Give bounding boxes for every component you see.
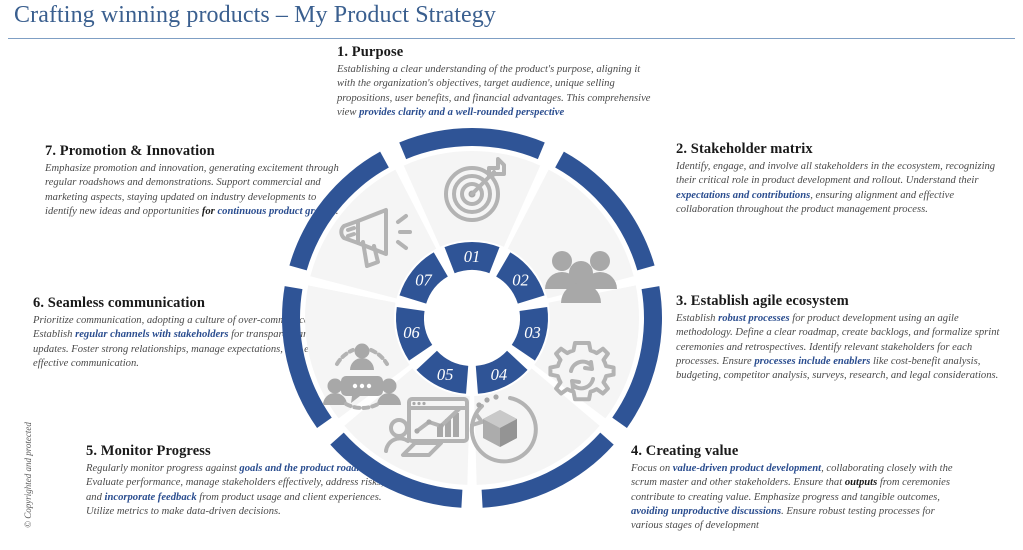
wheel-number-03: 03 xyxy=(524,323,541,342)
section-3-highlight-1: robust processes xyxy=(718,313,790,324)
section-4-body: Focus on value-driven product developmen… xyxy=(631,462,967,533)
section-6-highlight-1: regular channels with stakeholders xyxy=(75,329,228,340)
section-2-heading: 2. Stakeholder matrix xyxy=(676,141,1006,158)
section-1-highlight-1: provides clarity and a well-rounded pers… xyxy=(359,107,564,118)
section-7-highlight-1: for xyxy=(202,206,215,217)
wheel-number-04: 04 xyxy=(491,365,508,384)
section-2-stakeholder-matrix: 2. Stakeholder matrix Identify, engage, … xyxy=(676,141,1006,217)
wheel-number-02: 02 xyxy=(512,270,529,289)
wheel-number-07: 07 xyxy=(415,270,432,289)
product-strategy-wheel: 01020304050607 xyxy=(282,128,662,508)
wheel-number-06: 06 xyxy=(403,323,420,342)
section-2-highlight-1: expectations and contributions xyxy=(676,190,810,201)
section-1-purpose: 1. Purpose Establishing a clear understa… xyxy=(337,44,659,120)
section-1-body: Establishing a clear understanding of th… xyxy=(337,63,659,120)
section-2-body: Identify, engage, and involve all stakeh… xyxy=(676,160,1006,217)
section-3-agile-ecosystem: 3. Establish agile ecosystem Establish r… xyxy=(676,293,1010,383)
section-4-highlight-1: value-driven product development xyxy=(673,463,821,474)
slide-canvas: Crafting winning products – My Product S… xyxy=(0,0,1023,541)
section-4-highlight-2: outputs xyxy=(845,477,877,488)
title-divider xyxy=(8,38,1015,39)
copyright-notice: © Copyrighted and protected xyxy=(23,400,33,550)
section-4-creating-value: 4. Creating value Focus on value-driven … xyxy=(631,443,967,533)
section-3-body: Establish robust processes for product d… xyxy=(676,312,1010,383)
section-1-heading: 1. Purpose xyxy=(337,44,659,61)
section-3-highlight-2: processes include enablers xyxy=(754,356,870,367)
wheel-number-01: 01 xyxy=(464,247,481,266)
page-title: Crafting winning products – My Product S… xyxy=(14,2,496,29)
wheel-number-05: 05 xyxy=(437,365,454,384)
section-3-heading: 3. Establish agile ecosystem xyxy=(676,293,1010,310)
section-5-highlight-2: incorporate feedback xyxy=(105,492,197,503)
section-4-heading: 4. Creating value xyxy=(631,443,967,460)
